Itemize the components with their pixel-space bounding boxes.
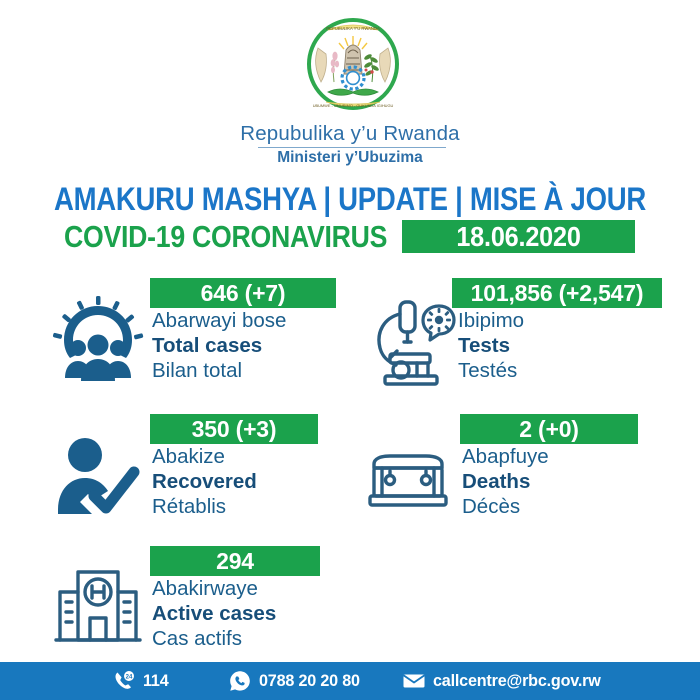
stat-value: 294 [150,546,320,576]
stat-label-rw: Abakize [150,444,372,469]
stat-label-fr: Bilan total [150,358,372,383]
microscope-icon [360,292,456,388]
stat-value-badge: 350 (+3) [150,414,318,444]
stat-value-badge: 294 [150,546,320,576]
stat-label-rw: Abakirwaye [150,576,372,601]
footer-whatsapp[interactable]: 0788 20 20 80 [228,662,365,700]
stat-tests: 101,856 (+2,547) Ibipimo Tests Testés [352,278,682,408]
hospital-icon [50,560,146,656]
svg-text:REPUBULIKA Y'U RWANDA: REPUBULIKA Y'U RWANDA [326,26,380,31]
stat-label-rw: Abarwayi bose [150,308,372,333]
stat-label-en: Tests [456,333,682,358]
phone-24h-icon: 24 [112,669,136,693]
contact-footer: 24 114 0788 20 20 80 callcentre@rbc. [0,662,700,700]
svg-text:UBUMWE - UMURIMO - GUKUNDA IGI: UBUMWE - UMURIMO - GUKUNDA IGIHUGU [313,103,394,108]
stat-value: 350 (+3) [150,414,318,444]
stat-active-cases: 294 Abakirwaye Active cases Cas actifs [42,546,372,676]
header-divider [258,147,446,148]
stat-label-en: Total cases [150,333,372,358]
stat-value: 646 (+7) [150,278,336,308]
footer-email[interactable]: callcentre@rbc.gov.rw [402,662,609,700]
stat-value-badge: 2 (+0) [460,414,638,444]
update-headline: AMAKURU MASHYA | UPDATE | MISE À JOUR [49,182,651,216]
whatsapp-icon [228,669,252,693]
stat-value: 101,856 (+2,547) [452,278,662,308]
stat-label-en: Deaths [460,469,682,494]
stat-label-en: Recovered [150,469,372,494]
stat-label-rw: Ibipimo [456,308,682,333]
ministry-name: Ministeri y’Ubuzima [0,149,700,167]
stat-value-badge: 646 (+7) [150,278,336,308]
covid-update-infographic: REPUBULIKA Y'U RWANDA [0,0,700,700]
stat-recovered: 350 (+3) Abakize Recovered Rétablis [42,414,372,544]
stat-body: 101,856 (+2,547) Ibipimo Tests Testés [456,278,682,383]
phone-number: 114 [143,671,168,691]
stat-value: 2 (+0) [460,414,638,444]
stat-label-fr: Cas actifs [150,626,372,651]
envelope-icon [402,669,426,693]
whatsapp-number: 0788 20 20 80 [259,671,360,691]
svg-text:24: 24 [126,674,133,680]
virus-people-icon [50,292,146,388]
stat-deaths: 2 (+0) Abapfuye Deaths Décès [352,414,682,544]
person-check-icon [50,428,146,524]
stat-total-cases: 646 (+7) Abarwayi bose Total cases Bilan… [42,278,372,408]
rwanda-coat-of-arms-icon: REPUBULIKA Y'U RWANDA [298,12,408,120]
disease-and-date-row: COVID-19 CORONAVIRUS 18.06.2020 [0,220,700,256]
email-address: callcentre@rbc.gov.rw [433,671,601,691]
title-block: AMAKURU MASHYA | UPDATE | MISE À JOUR CO… [0,182,700,256]
stat-label-rw: Abapfuye [460,444,682,469]
stat-label-fr: Décès [460,494,682,519]
coffin-icon [360,428,456,524]
stat-label-fr: Testés [456,358,682,383]
footer-phone[interactable]: 24 114 [112,662,170,700]
stat-body: 350 (+3) Abakize Recovered Rétablis [150,414,372,519]
stat-label-fr: Rétablis [150,494,372,519]
country-name: Repubulika y’u Rwanda [0,122,700,146]
stat-value-badge: 101,856 (+2,547) [452,278,662,308]
stat-body: 294 Abakirwaye Active cases Cas actifs [150,546,372,651]
stat-body: 646 (+7) Abarwayi bose Total cases Bilan… [150,278,372,383]
stat-body: 2 (+0) Abapfuye Deaths Décès [460,414,682,519]
header: REPUBULIKA Y'U RWANDA [0,0,700,172]
date-text: 18.06.2020 [414,220,624,253]
disease-headline: COVID-19 CORONAVIRUS [64,220,387,254]
date-badge: 18.06.2020 [402,220,635,253]
stat-label-en: Active cases [150,601,372,626]
